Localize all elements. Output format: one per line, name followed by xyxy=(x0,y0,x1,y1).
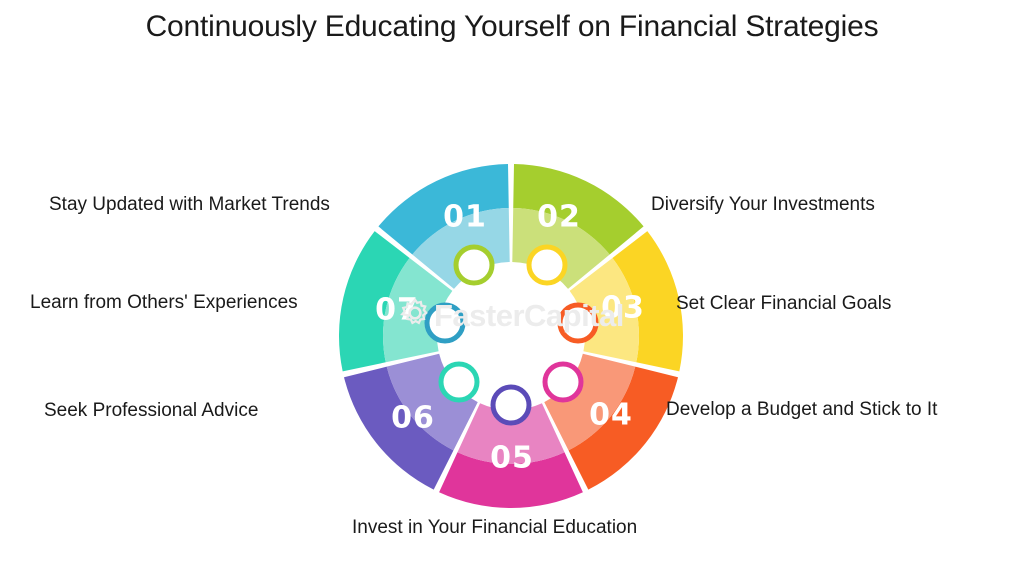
wheel-svg: 01020304050607 xyxy=(335,160,687,512)
wheel-segment-ring-06[interactable] xyxy=(441,364,477,400)
wheel-segment-ring-01[interactable] xyxy=(456,247,492,283)
wheel-segment-number-07: 07 xyxy=(375,293,419,328)
segment-label-03: Set Clear Financial Goals xyxy=(676,291,1006,316)
wheel-segment-number-05: 05 xyxy=(490,441,534,476)
wheel-segment-number-01: 01 xyxy=(443,200,487,235)
page-title: Continuously Educating Yourself on Finan… xyxy=(0,6,1024,48)
infographic-canvas: Continuously Educating Yourself on Finan… xyxy=(0,0,1024,576)
segment-label-04: Develop a Budget and Stick to It xyxy=(666,397,1016,422)
wheel-segment-number-03: 03 xyxy=(601,291,645,326)
segment-label-05: Invest in Your Financial Education xyxy=(352,515,652,540)
wheel-segment-number-02: 02 xyxy=(537,200,581,235)
wheel-segment-number-06: 06 xyxy=(391,401,435,436)
segment-label-01: Stay Updated with Market Trends xyxy=(49,192,339,217)
segment-label-02: Diversify Your Investments xyxy=(651,192,981,217)
segment-label-06: Seek Professional Advice xyxy=(44,398,344,423)
wheel-segment-number-04: 04 xyxy=(589,398,633,433)
donut-wheel-diagram: 01020304050607 xyxy=(335,160,687,512)
wheel-segment-ring-02[interactable] xyxy=(529,247,565,283)
wheel-segment-ring-07[interactable] xyxy=(427,305,463,341)
wheel-segment-ring-05[interactable] xyxy=(493,387,529,423)
wheel-segment-ring-03[interactable] xyxy=(560,305,596,341)
segment-label-07: Learn from Others' Experiences xyxy=(30,290,345,315)
wheel-segment-ring-04[interactable] xyxy=(545,364,581,400)
